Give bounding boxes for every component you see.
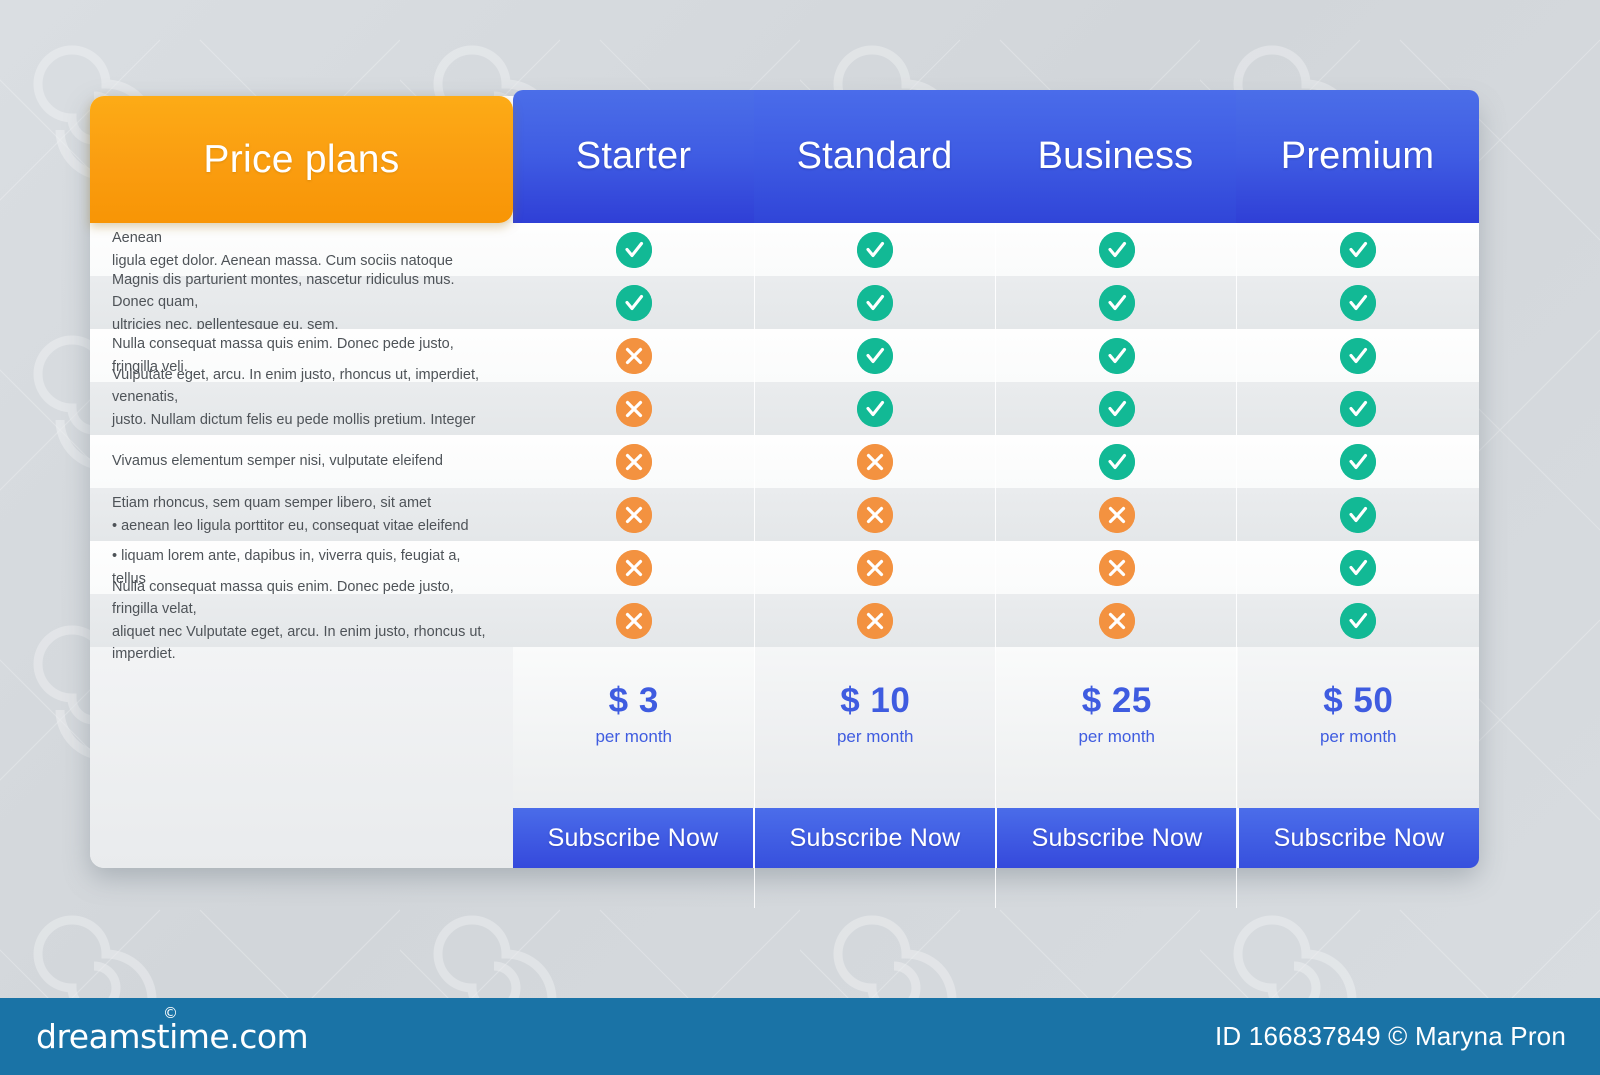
availability-cell: [1238, 382, 1480, 435]
check-glyph: [857, 232, 893, 268]
feature-availability-cells: [513, 382, 1479, 435]
availability-cell: [1238, 223, 1480, 276]
page-title: Price plans: [203, 138, 399, 182]
availability-cell: [513, 276, 755, 329]
feature-availability-cells: [513, 594, 1479, 647]
availability-cell: [996, 594, 1238, 647]
cross-circle-icon: [616, 603, 652, 639]
availability-cell: [1238, 276, 1480, 329]
subscribe-button-standard[interactable]: Subscribe Now: [755, 808, 995, 868]
cross-glyph: [857, 550, 893, 586]
feature-row: Vivamus elementum semper nisi, vulputate…: [90, 435, 1479, 488]
cross-glyph: [1099, 550, 1135, 586]
subscribe-button-business[interactable]: Subscribe Now: [997, 808, 1237, 868]
feature-availability-cells: [513, 435, 1479, 488]
cross-glyph: [616, 550, 652, 586]
plan-header-premium[interactable]: Premium: [1236, 90, 1479, 223]
check-circle-icon: [616, 232, 652, 268]
cross-glyph: [616, 444, 652, 480]
cross-circle-icon: [616, 550, 652, 586]
cross-circle-icon: [1099, 550, 1135, 586]
check-circle-icon: [616, 285, 652, 321]
cross-circle-icon: [857, 603, 893, 639]
availability-cell: [513, 223, 755, 276]
subscribe-strip: Subscribe NowSubscribe NowSubscribe NowS…: [513, 808, 1479, 868]
plan-header-starter[interactable]: Starter: [513, 90, 754, 223]
pricing-table-card: Starter Standard Business Premium Price …: [90, 96, 1479, 868]
feature-label: Etiam rhoncus, sem quam semper libero, s…: [90, 492, 513, 536]
cross-glyph: [1099, 497, 1135, 533]
check-circle-icon: [1099, 444, 1135, 480]
feature-availability-cells: [513, 329, 1479, 382]
availability-cell: [1238, 488, 1480, 541]
feature-label: Magnis dis parturient montes, nascetur r…: [90, 269, 513, 335]
feature-rows: Lorem ipsum dolor sit amet, consectetuer…: [90, 223, 1479, 647]
check-circle-icon: [1340, 550, 1376, 586]
check-glyph: [1099, 338, 1135, 374]
price-cell: $ 10per month: [755, 647, 997, 808]
cross-circle-icon: [857, 444, 893, 480]
check-glyph: [1340, 285, 1376, 321]
subscribe-button-premium[interactable]: Subscribe Now: [1239, 808, 1479, 868]
availability-cell: [513, 594, 755, 647]
check-circle-icon: [1340, 338, 1376, 374]
price-period: per month: [837, 727, 914, 747]
feature-row: Vulputate eget, arcu. In enim justo, rho…: [90, 382, 1479, 435]
availability-cell: [996, 488, 1238, 541]
availability-cell: [996, 541, 1238, 594]
stock-footer-bar: dreamstime.com © ID 166837849 © Maryna P…: [0, 998, 1600, 1075]
check-glyph: [1340, 391, 1376, 427]
availability-cell: [513, 329, 755, 382]
check-circle-icon: [1099, 232, 1135, 268]
check-glyph: [857, 285, 893, 321]
price-amount: $ 50: [1323, 683, 1393, 718]
availability-cell: [513, 435, 755, 488]
cross-circle-icon: [1099, 603, 1135, 639]
plan-header-business[interactable]: Business: [995, 90, 1236, 223]
dreamstime-logo-text: dreamstime.com: [36, 1017, 308, 1056]
price-strip: $ 3per month$ 10per month$ 25per month$ …: [513, 647, 1479, 808]
check-glyph: [1340, 550, 1376, 586]
dreamstime-logo: dreamstime.com ©: [36, 1017, 308, 1056]
cross-glyph: [857, 603, 893, 639]
availability-cell: [996, 382, 1238, 435]
check-glyph: [1340, 444, 1376, 480]
check-circle-icon: [1340, 232, 1376, 268]
check-circle-icon: [1099, 338, 1135, 374]
availability-cell: [996, 435, 1238, 488]
cross-glyph: [857, 444, 893, 480]
feature-row: Lorem ipsum dolor sit amet, consectetuer…: [90, 223, 1479, 276]
cross-glyph: [616, 338, 652, 374]
cross-glyph: [1099, 603, 1135, 639]
availability-cell: [755, 541, 997, 594]
availability-cell: [755, 276, 997, 329]
cross-circle-icon: [616, 444, 652, 480]
cross-glyph: [857, 497, 893, 533]
check-circle-icon: [1340, 497, 1376, 533]
availability-cell: [1238, 435, 1480, 488]
check-circle-icon: [1099, 391, 1135, 427]
check-glyph: [1340, 603, 1376, 639]
check-glyph: [1340, 497, 1376, 533]
price-period: per month: [1320, 727, 1397, 747]
availability-cell: [1238, 541, 1480, 594]
price-amount: $ 10: [840, 683, 910, 718]
cross-circle-icon: [1099, 497, 1135, 533]
availability-cell: [755, 382, 997, 435]
check-circle-icon: [857, 232, 893, 268]
page-background: Starter Standard Business Premium Price …: [0, 0, 1600, 1075]
cross-glyph: [616, 603, 652, 639]
feature-availability-cells: [513, 276, 1479, 329]
availability-cell: [996, 223, 1238, 276]
price-cell: $ 50per month: [1238, 647, 1480, 808]
price-amount: $ 25: [1082, 683, 1152, 718]
price-amount: $ 3: [609, 683, 659, 718]
check-glyph: [616, 232, 652, 268]
check-glyph: [857, 391, 893, 427]
availability-cell: [513, 541, 755, 594]
availability-cell: [996, 276, 1238, 329]
check-circle-icon: [857, 391, 893, 427]
price-cell: $ 3per month: [513, 647, 755, 808]
feature-row: Etiam rhoncus, sem quam semper libero, s…: [90, 488, 1479, 541]
feature-row: Magnis dis parturient montes, nascetur r…: [90, 276, 1479, 329]
feature-row: Nulla consequat massa quis enim. Donec p…: [90, 594, 1479, 647]
check-circle-icon: [857, 285, 893, 321]
feature-availability-cells: [513, 541, 1479, 594]
feature-label: Vivamus elementum semper nisi, vulputate…: [90, 450, 513, 472]
check-glyph: [1099, 444, 1135, 480]
feature-availability-cells: [513, 223, 1479, 276]
availability-cell: [755, 329, 997, 382]
check-circle-icon: [1340, 603, 1376, 639]
plan-header-standard[interactable]: Standard: [754, 90, 995, 223]
check-circle-icon: [857, 338, 893, 374]
availability-cell: [755, 488, 997, 541]
availability-cell: [1238, 329, 1480, 382]
price-period: per month: [595, 727, 672, 747]
availability-cell: [996, 329, 1238, 382]
check-glyph: [616, 285, 652, 321]
registered-mark-icon: ©: [163, 1004, 178, 1022]
availability-cell: [755, 223, 997, 276]
cross-circle-icon: [857, 550, 893, 586]
cross-glyph: [616, 391, 652, 427]
check-glyph: [857, 338, 893, 374]
check-circle-icon: [1340, 444, 1376, 480]
check-glyph: [1099, 285, 1135, 321]
check-glyph: [1340, 338, 1376, 374]
check-glyph: [1099, 391, 1135, 427]
subscribe-button-starter[interactable]: Subscribe Now: [513, 808, 753, 868]
feature-label: Nulla consequat massa quis enim. Donec p…: [90, 576, 513, 664]
availability-cell: [755, 435, 997, 488]
price-period: per month: [1078, 727, 1155, 747]
availability-cell: [513, 382, 755, 435]
cross-circle-icon: [616, 391, 652, 427]
availability-cell: [755, 594, 997, 647]
availability-cell: [1238, 594, 1480, 647]
cross-circle-icon: [616, 338, 652, 374]
check-circle-icon: [1099, 285, 1135, 321]
check-circle-icon: [1340, 391, 1376, 427]
cross-circle-icon: [857, 497, 893, 533]
price-cell: $ 25per month: [996, 647, 1238, 808]
check-circle-icon: [1340, 285, 1376, 321]
cross-glyph: [616, 497, 652, 533]
price-plans-title-tab: Price plans: [90, 96, 513, 223]
check-glyph: [1099, 232, 1135, 268]
availability-cell: [513, 488, 755, 541]
feature-availability-cells: [513, 488, 1479, 541]
cross-circle-icon: [616, 497, 652, 533]
image-credit: ID 166837849 © Maryna Pron: [1215, 1021, 1566, 1052]
check-glyph: [1340, 232, 1376, 268]
